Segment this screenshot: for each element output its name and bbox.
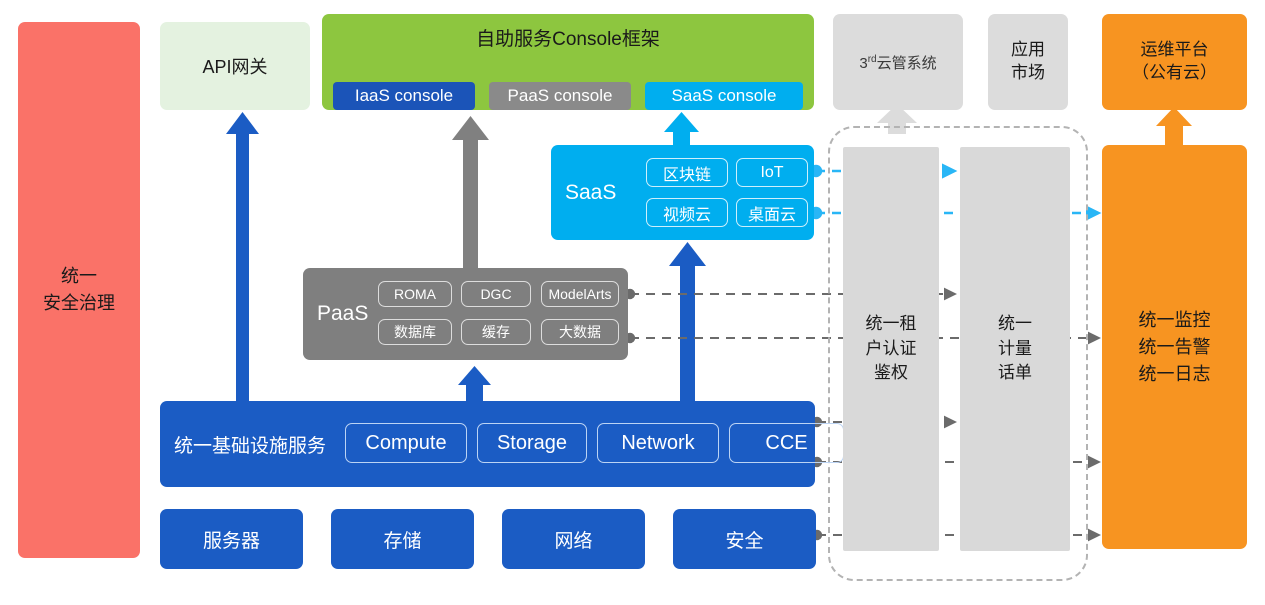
- hardware-label-security: 安全: [725, 526, 763, 553]
- third-cloud-superscript: rd: [868, 54, 877, 65]
- auth-line-3: 鉴权: [866, 361, 917, 386]
- paas-item-database[interactable]: 数据库: [378, 319, 452, 345]
- saas-item-video-cloud[interactable]: 视频云: [646, 198, 728, 227]
- infra-item-storage[interactable]: Storage: [477, 423, 587, 463]
- paas-item-bigdata[interactable]: 大数据: [541, 319, 619, 345]
- third-cloud-prefix: 3: [859, 55, 867, 72]
- metering-line-3: 话单: [998, 361, 1032, 386]
- saas-item-iot[interactable]: IoT: [736, 158, 808, 187]
- hardware-item-storage[interactable]: 存储: [331, 509, 474, 569]
- saas-label: SaaS: [565, 145, 616, 240]
- api-gateway-box[interactable]: API网关: [160, 22, 310, 110]
- hardware-item-server[interactable]: 服务器: [160, 509, 303, 569]
- arrow-infra-to-saas: [669, 242, 706, 402]
- self-service-console-framework[interactable]: 自助服务Console框架 IaaS console PaaS console …: [322, 14, 814, 110]
- hardware-item-network[interactable]: 网络: [502, 509, 645, 569]
- hardware-label-server: 服务器: [203, 526, 260, 553]
- ops-col-line-3: 统一日志: [1139, 361, 1211, 388]
- paas-label: PaaS: [317, 268, 368, 360]
- saas-item-blockchain[interactable]: 区块链: [646, 158, 728, 187]
- ops-top-line-2: （公有云）: [1132, 62, 1217, 85]
- third-cloud-suffix: 云管系统: [877, 55, 937, 72]
- paas-item-cache[interactable]: 缓存: [461, 319, 531, 345]
- third-party-cloud-management-box[interactable]: 3rd云管系统: [833, 14, 963, 110]
- ops-platform-public-cloud-box[interactable]: 运维平台 （公有云）: [1102, 14, 1247, 110]
- arrow-ops-column-to-ops-top: [1156, 107, 1192, 146]
- iaas-console-chip[interactable]: IaaS console: [333, 82, 475, 110]
- metering-line-1: 统一: [998, 312, 1032, 337]
- paas-item-roma[interactable]: ROMA: [378, 281, 452, 307]
- unified-tenant-auth-column[interactable]: 统一租 户认证 鉴权: [843, 147, 939, 551]
- metering-line-2: 计量: [998, 337, 1032, 362]
- saas-item-desktop-cloud[interactable]: 桌面云: [736, 198, 808, 227]
- hardware-label-network: 网络: [554, 526, 592, 553]
- paas-console-chip[interactable]: PaaS console: [489, 82, 631, 110]
- arrow-saas-to-saas-console: [664, 112, 699, 146]
- ops-col-line-2: 统一告警: [1139, 334, 1211, 361]
- security-line-2: 安全治理: [43, 290, 115, 317]
- unified-security-governance-panel[interactable]: 统一 安全治理: [18, 22, 140, 558]
- console-framework-title: 自助服务Console框架: [322, 24, 814, 51]
- paas-layer[interactable]: PaaS ROMA DGC ModelArts 数据库 缓存 大数据: [303, 268, 628, 360]
- paas-item-modelarts[interactable]: ModelArts: [541, 281, 619, 307]
- unified-monitoring-column[interactable]: 统一监控 统一告警 统一日志: [1102, 145, 1247, 549]
- ops-col-line-1: 统一监控: [1139, 307, 1211, 334]
- architecture-diagram: 统一 安全治理 API网关 自助服务Console框架 IaaS console…: [0, 0, 1265, 605]
- app-market-line-2: 市场: [1011, 62, 1045, 85]
- app-market-box[interactable]: 应用 市场: [988, 14, 1068, 110]
- saas-console-chip[interactable]: SaaS console: [645, 82, 803, 110]
- hardware-label-storage: 存储: [383, 526, 421, 553]
- api-gateway-label: API网关: [202, 53, 267, 79]
- paas-item-dgc[interactable]: DGC: [461, 281, 531, 307]
- arrow-infra-to-paas: [458, 366, 491, 402]
- unified-metering-billing-column[interactable]: 统一 计量 话单: [960, 147, 1070, 551]
- arrow-paas-to-console: [452, 116, 489, 269]
- security-line-1: 统一: [43, 263, 115, 290]
- auth-line-1: 统一租: [866, 312, 917, 337]
- arrow-infra-to-api-gateway: [226, 112, 259, 403]
- saas-layer[interactable]: SaaS 区块链 IoT 视频云 桌面云: [551, 145, 814, 240]
- ops-top-line-1: 运维平台: [1132, 39, 1217, 62]
- infrastructure-label: 统一基础设施服务: [174, 401, 326, 487]
- infra-item-network[interactable]: Network: [597, 423, 719, 463]
- unified-infrastructure-layer[interactable]: 统一基础设施服务 Compute Storage Network CCE: [160, 401, 815, 487]
- infra-item-cce[interactable]: CCE: [729, 423, 844, 463]
- auth-line-2: 户认证: [866, 337, 917, 362]
- infra-item-compute[interactable]: Compute: [345, 423, 467, 463]
- app-market-line-1: 应用: [1011, 39, 1045, 62]
- hardware-item-security[interactable]: 安全: [673, 509, 816, 569]
